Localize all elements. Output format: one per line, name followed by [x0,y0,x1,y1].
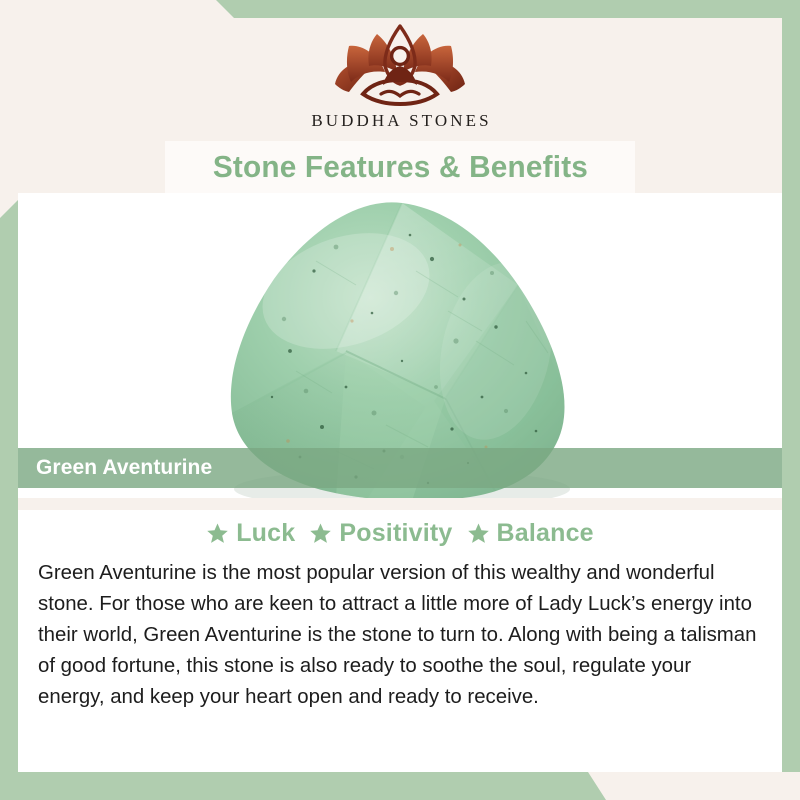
photo-under-strip [18,498,782,510]
title-banner: Stone Features & Benefits [165,141,635,193]
poster-canvas: BUDDHA STONES Stone Features & Benefits [0,0,800,800]
star-icon [467,522,490,545]
frame-band-bottom [0,772,800,800]
star-icon [309,522,332,545]
header: BUDDHA STONES [0,0,800,140]
benefit-label: Balance [497,519,594,548]
product-label-bar: Green Aventurine [18,448,782,488]
benefit-label: Positivity [339,519,452,548]
benefit-item-balance: Balance [467,519,594,548]
frame-band-left [0,200,18,800]
brand-logo: BUDDHA STONES [0,22,800,131]
brand-name: BUDDHA STONES [0,111,800,131]
description-text: Green Aventurine is the most popular ver… [38,557,758,712]
page-title: Stone Features & Benefits [212,149,587,185]
star-icon [206,522,229,545]
benefit-item-positivity: Positivity [309,519,452,548]
benefit-label: Luck [236,519,295,548]
benefits-row: Luck Positivity Balance [18,510,782,548]
product-image: Green Aventurine [18,193,782,498]
lotus-meditation-figure-icon [315,22,485,106]
benefit-item-luck: Luck [206,519,295,548]
product-label: Green Aventurine [36,456,212,480]
content-panel: Luck Positivity Balance Green Aventurine… [18,510,782,772]
